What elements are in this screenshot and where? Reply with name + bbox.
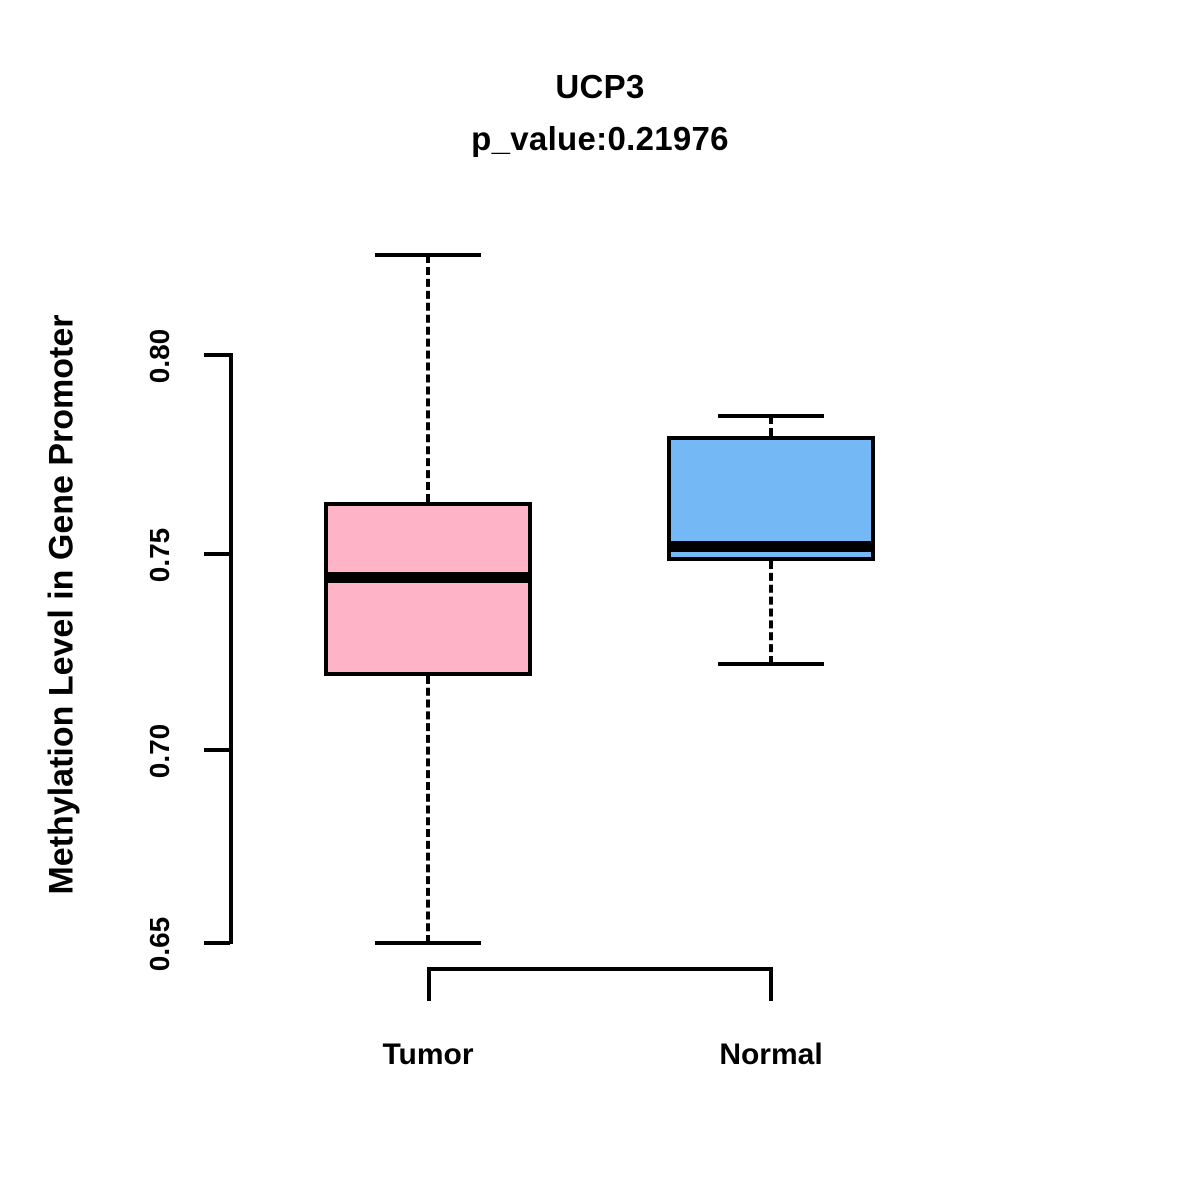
tumor-median-line (324, 572, 532, 583)
x-tick-mark-normal (769, 967, 773, 1001)
x-axis-line (427, 967, 773, 971)
page-title: UCP3 (0, 70, 1200, 103)
y-tick-mark-080 (204, 353, 230, 357)
normal-lower-whisker-cap (718, 662, 824, 666)
y-tick-label-065: 0.65 (144, 884, 176, 1004)
y-axis-line (229, 353, 233, 944)
tumor-lower-whisker (426, 676, 430, 943)
tumor-box (324, 502, 532, 675)
normal-median-line (667, 541, 875, 552)
boxplot-figure: UCP3 p_value:0.21976 Methylation Level i… (0, 0, 1200, 1200)
tumor-upper-whisker-cap (375, 253, 481, 257)
tumor-upper-whisker (426, 255, 430, 503)
normal-lower-whisker (769, 561, 773, 663)
x-tick-label-tumor: Tumor (278, 1038, 578, 1072)
y-tick-label-070: 0.70 (144, 691, 176, 811)
normal-upper-whisker (769, 416, 773, 436)
p-value-subtitle: p_value:0.21976 (0, 122, 1200, 155)
y-tick-mark-075 (204, 552, 230, 556)
tumor-lower-whisker-cap (375, 941, 481, 945)
normal-upper-whisker-cap (718, 414, 824, 418)
y-axis-label: Methylation Level in Gene Promoter (43, 185, 82, 1025)
y-tick-mark-065 (204, 941, 230, 945)
x-tick-label-normal: Normal (621, 1038, 921, 1072)
y-tick-label-080: 0.80 (144, 296, 176, 416)
y-tick-label-075: 0.75 (144, 495, 176, 615)
y-tick-mark-070 (204, 748, 230, 752)
x-tick-mark-tumor (427, 967, 431, 1001)
